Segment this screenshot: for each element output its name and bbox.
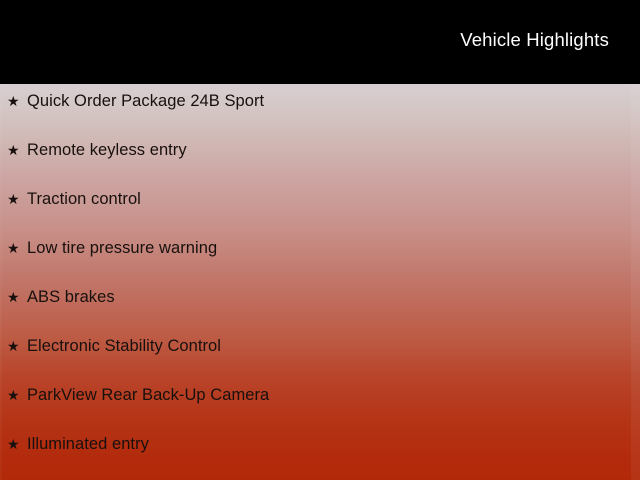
list-item: ★ Remote keyless entry: [7, 139, 187, 161]
list-item: ★ Low tire pressure warning: [7, 237, 217, 259]
list-item-label: Remote keyless entry: [27, 142, 187, 159]
right-edge-strip: [631, 84, 640, 480]
list-item: ★ Traction control: [7, 188, 141, 210]
highlights-body: ★ Quick Order Package 24B Sport ★ Remote…: [0, 84, 640, 480]
list-item-label: Quick Order Package 24B Sport: [27, 93, 264, 110]
list-item: ★ Illuminated entry: [7, 433, 149, 455]
list-item-label: Traction control: [27, 191, 141, 208]
vehicle-highlights-panel: Vehicle Highlights ★ Quick Order Package…: [0, 0, 640, 480]
star-icon: ★: [7, 339, 27, 353]
left-edge-strip: [0, 84, 2, 480]
star-icon: ★: [7, 241, 27, 255]
star-icon: ★: [7, 94, 27, 108]
star-icon: ★: [7, 143, 27, 157]
page-title: Vehicle Highlights: [460, 31, 609, 50]
list-item-label: Low tire pressure warning: [27, 240, 217, 257]
list-item-label: Electronic Stability Control: [27, 338, 221, 355]
list-item: ★ Quick Order Package 24B Sport: [7, 90, 264, 112]
panel-header: Vehicle Highlights: [0, 0, 640, 84]
star-icon: ★: [7, 388, 27, 402]
list-item: ★ ABS brakes: [7, 286, 115, 308]
list-item: ★ Electronic Stability Control: [7, 335, 221, 357]
list-item-label: ABS brakes: [27, 289, 115, 306]
star-icon: ★: [7, 437, 27, 451]
star-icon: ★: [7, 290, 27, 304]
list-item-label: Illuminated entry: [27, 436, 149, 453]
star-icon: ★: [7, 192, 27, 206]
list-item-label: ParkView Rear Back-Up Camera: [27, 387, 269, 404]
list-item: ★ ParkView Rear Back-Up Camera: [7, 384, 269, 406]
